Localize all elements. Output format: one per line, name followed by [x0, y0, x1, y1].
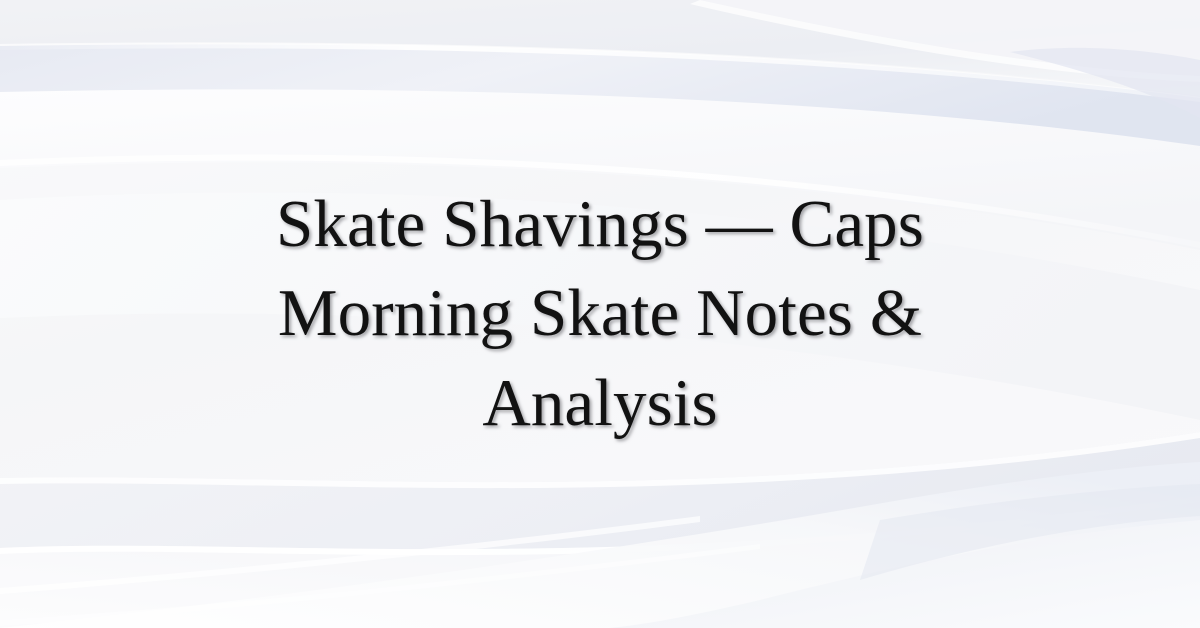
title-card: Skate Shavings — Caps Morning Skate Note…: [0, 0, 1200, 628]
page-title: Skate Shavings — Caps Morning Skate Note…: [210, 180, 990, 447]
headline-container: Skate Shavings — Caps Morning Skate Note…: [0, 0, 1200, 628]
